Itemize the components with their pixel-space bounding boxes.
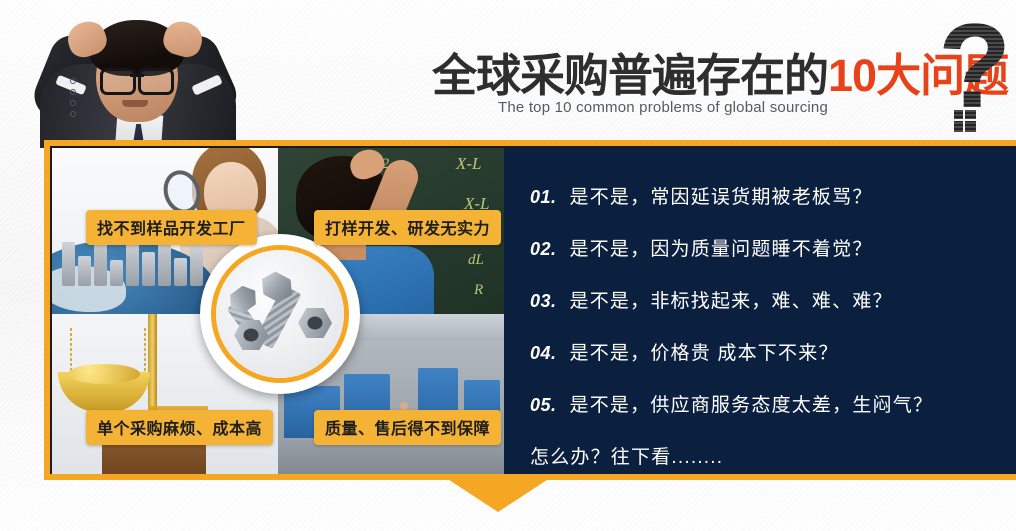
collage-caption-1: 找不到样品开发工厂 [86,210,257,245]
problem-item: 03. 是不是，非标找起来，难、难、难？ [530,286,1016,313]
problem-number: 02. [530,239,557,260]
problem-text: 是不是，常因延误货期被老板骂？ [570,182,873,209]
main-frame: x-2 X-L X-L R dL R P [44,140,1016,480]
scale-chain-right [144,328,146,374]
scroll-down-arrow-icon [440,474,556,512]
equation-text-6: R [474,282,483,299]
collage-caption-3: 单个采购麻烦、成本高 [86,410,273,445]
frustrated-businessman-photo [12,6,262,148]
problem-text: 是不是，非标找起来，难、难、难？ [570,286,893,313]
collage-caption-2: 打样开发、研发无实力 [314,210,501,245]
problem-text: 是不是，价格贵 成本下不来？ [570,338,839,365]
problem-text: 是不是，供应商服务态度太差，生闷气？ [570,390,934,417]
problem-number: 04. [530,343,557,364]
brow-shape [130,74,144,77]
problem-item: 02. 是不是，因为质量问题睡不着觉？ [530,234,1016,261]
mouth-shape [122,100,148,107]
question-mark-graphic: ? [938,22,1016,138]
problem-list-panel: 01. 是不是，常因延误货期被老板骂？ 02. 是不是，因为质量问题睡不着觉？ … [504,148,1016,480]
problem-text: 是不是，因为质量问题睡不着觉？ [570,234,873,261]
page-title: 全球采购普遍存在的10大问题 [432,53,1008,98]
question-mark-dot [954,110,976,132]
gold-nuggets-shape [68,364,140,384]
promo-banner: 全球采购普遍存在的10大问题 The top 10 common problem… [0,0,1016,531]
equation-text-2: X-L [456,154,482,174]
image-collage: x-2 X-L X-L R dL R P [52,148,504,480]
problem-number: 03. [530,291,557,312]
center-product-circle [200,234,360,394]
problem-number: 05. [530,395,557,416]
nut-shape-2 [298,308,332,338]
equation-text-5: dL [468,252,484,269]
page-subtitle: The top 10 common problems of global sou… [498,99,828,116]
scale-chain-left [70,328,72,374]
question-mark-icon: ? [938,6,1011,126]
problem-item: 01. 是不是，常因延误货期被老板骂？ [530,182,1016,209]
glasses-icon [100,68,174,89]
headline-container: 全球采购普遍存在的10大问题 [432,40,944,98]
sleeve-buttons-shape [70,78,78,112]
collage-caption-4: 质量、售后得不到保障 [314,410,501,445]
panel-footer-text: 怎么办？往下看........ [530,442,1016,469]
bolt-photo-ring [211,245,349,383]
problem-number: 01. [530,187,557,208]
banner-header: 全球采购普遍存在的10大问题 The top 10 common problem… [0,0,1016,148]
frame-inner: x-2 X-L X-L R dL R P [50,146,1016,480]
problem-item: 04. 是不是，价格贵 成本下不来？ [530,338,1016,365]
problem-item: 05. 是不是，供应商服务态度太差，生闷气？ [530,390,1016,417]
title-plain-text: 全球采购普遍存在的 [432,50,828,101]
